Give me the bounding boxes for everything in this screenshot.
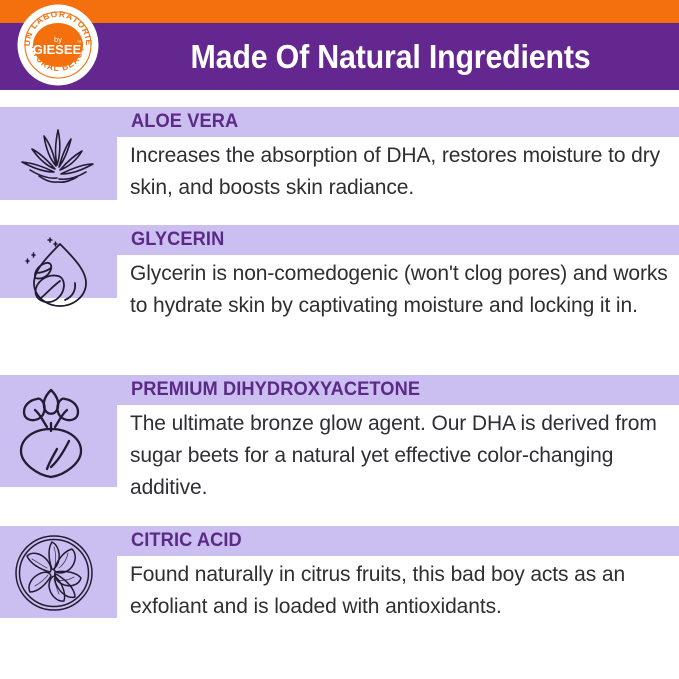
- brand-logo-badge: SUN LABORATORIES NATURAL BEAUTY by GIESE…: [17, 4, 99, 86]
- icon-block: [0, 526, 117, 618]
- ingredient-description: Increases the absorption of DHA, restore…: [130, 140, 670, 204]
- ingredient-section-citric-acid: CITRIC ACID Found naturally in citrus fr…: [0, 526, 679, 669]
- water-droplet-leaves-icon: [8, 231, 108, 319]
- ingredient-section-premium-dihydroxyacetone: PREMIUM DIHYDROXYACETONE The ultimate br…: [0, 375, 679, 518]
- icon-block: [0, 225, 117, 298]
- ingredient-title: GLYCERIN: [131, 225, 224, 255]
- svg-text:™: ™: [77, 40, 82, 46]
- ingredient-section-aloe-vera: ALOE VERA Increases the absorption of DH…: [0, 107, 679, 217]
- ingredient-section-glycerin: GLYCERIN Glycerin is non-comedogenic (wo…: [0, 225, 679, 368]
- infographic-page: Made Of Natural Ingredients SUN LABORATO…: [0, 0, 679, 679]
- ingredient-title: ALOE VERA: [131, 107, 238, 137]
- ingredient-title: CITRIC ACID: [131, 526, 242, 556]
- citrus-slice-icon: [11, 532, 97, 614]
- aloe-plant-icon: [8, 113, 108, 201]
- ingredient-description: The ultimate bronze glow agent. Our DHA …: [130, 408, 670, 504]
- top-orange-band: [0, 0, 679, 23]
- icon-block: [0, 107, 117, 200]
- ingredient-description: Found naturally in citrus fruits, this b…: [130, 559, 670, 623]
- sugar-beet-icon: [13, 383, 89, 481]
- ingredient-description: Glycerin is non-comedogenic (won't clog …: [130, 258, 670, 322]
- icon-block: [0, 375, 117, 487]
- svg-text:GIESEE: GIESEE: [33, 42, 82, 57]
- ingredient-title: PREMIUM DIHYDROXYACETONE: [131, 375, 420, 405]
- page-title: Made Of Natural Ingredients: [140, 23, 641, 90]
